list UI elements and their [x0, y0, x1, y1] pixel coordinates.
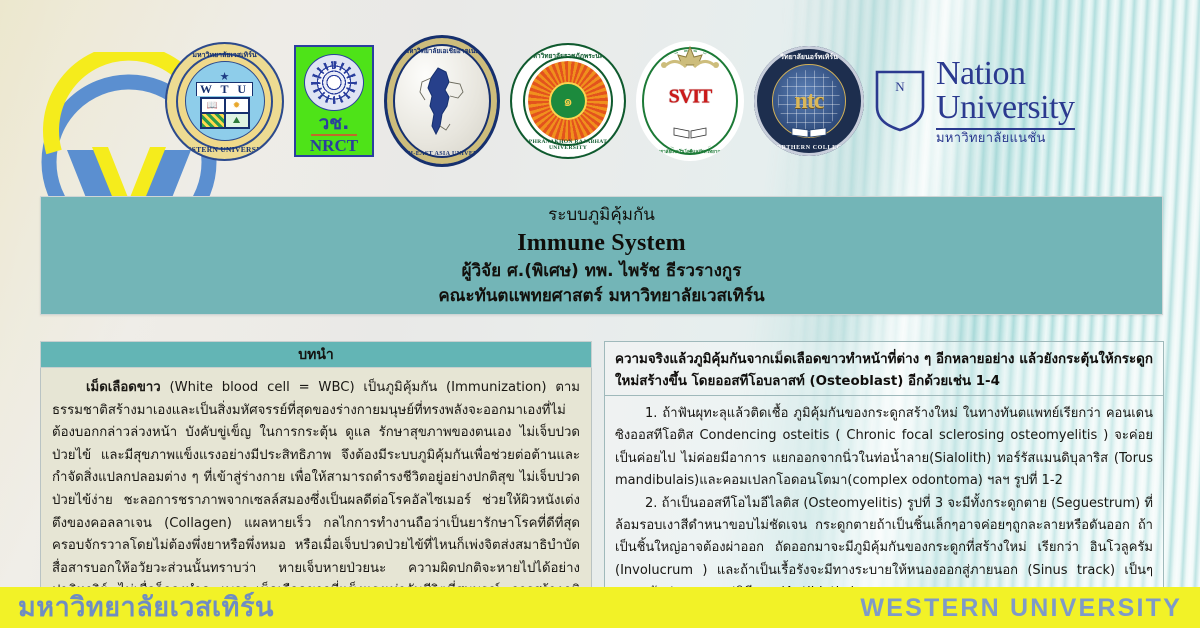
open-book-icon — [791, 126, 827, 138]
star-icon: ★ — [220, 73, 230, 81]
svit-ring-bottom-text: วิทยาลัยเทคโนโลยีและสหวิทยาการ — [636, 149, 744, 156]
footer-bar: มหาวิทยาลัยเวสเทิร์น WESTERN UNIVERSITY — [0, 587, 1200, 628]
right-column-item-1: 1. ถ้าฟันผุทะลุแล้วติดเชื้อ ภูมิคุ้มกันข… — [615, 403, 1153, 493]
left-column-text: (White blood cell = WBC) เป็นภูมิคุ้มกัน… — [52, 380, 580, 621]
logo-nation-university: N Nation University มหาวิทยาลัยแนชั่น — [874, 57, 1075, 145]
wtu-inner-disc: ★ W T U 📖 ✹ ⛰ — [185, 61, 265, 141]
mountain-icon: ⛰ — [225, 113, 249, 128]
thailand-map-icon — [416, 64, 468, 138]
footer-english-text: WESTERN UNIVERSITY — [860, 594, 1182, 622]
crown-icon — [636, 43, 744, 85]
logo-western-thai-university: มหาวิทยาลัยเวสเทิร์น ★ W T U 📖 ✹ ⛰ WESTE… — [165, 42, 284, 161]
title-band: ระบบภูมิคุ้มกัน Immune System ผู้วิจัย ศ… — [40, 196, 1163, 315]
prru-ring-top-text: มหาวิทยาลัยราชภัฏพระนคร — [512, 51, 624, 61]
left-column-heading: บทนำ — [40, 341, 592, 368]
sun-icon: ✹ — [225, 98, 249, 113]
nation-line1: Nation — [936, 57, 1075, 91]
shield-icon: N — [874, 69, 926, 133]
footer-thai-text: มหาวิทยาลัยเวสเทิร์น — [18, 593, 274, 623]
right-column-heading-box: ความจริงแล้วภูมิคุ้มกันจากเม็ดเลือดขาวทำ… — [604, 341, 1164, 395]
seau-ring-top-text: มหาวิทยาลัยเอเชียอาคเนย์ — [387, 46, 497, 56]
logo-nrct: วช. NRCT — [294, 45, 374, 157]
nation-divider — [936, 128, 1075, 130]
nrct-wheel-icon — [304, 54, 364, 111]
thai-title: ระบบภูมิคุ้มกัน — [548, 203, 655, 227]
left-column: บทนำ เม็ดเลือดขาว (White blood cell = WB… — [40, 341, 592, 621]
logo-south-east-asia-university: มหาวิทยาลัยเอเชียอาคเนย์ SOUTH-EAST ASIA… — [384, 35, 500, 167]
prru-ring-bottom-text: PHRANAKHON RAJABHAT UNIVERSITY — [512, 139, 624, 151]
affiliation-line: คณะทันตแพทยศาสตร์ มหาวิทยาลัยเวสเทิร์น — [438, 284, 764, 309]
logo-phranakhon-rajabhat: มหาวิทยาลัยราชภัฏพระนคร ๑ PHRANAKHON RAJ… — [510, 43, 626, 159]
wtu-quadrant-grid: 📖 ✹ ⛰ — [200, 97, 250, 129]
book-icon: 📖 — [201, 98, 225, 113]
prru-emblem-icon: ๑ — [549, 82, 587, 120]
left-column-body: เม็ดเลือดขาว (White blood cell = WBC) เป… — [40, 368, 592, 621]
poster-root: มหาวิทยาลัยเวสเทิร์น ★ W T U 📖 ✹ ⛰ WESTE… — [0, 0, 1200, 628]
right-column-heading: ความจริงแล้วภูมิคุ้มกันจากเม็ดเลือดขาวทำ… — [615, 349, 1153, 393]
wtu-ring-bottom-text: WESTERN UNIVERSITY — [167, 145, 282, 154]
nation-wordmark: Nation University มหาวิทยาลัยแนชั่น — [936, 57, 1075, 145]
lead-bold-term: เม็ดเลือดขาว — [86, 380, 161, 395]
author-line: ผู้วิจัย ศ.(พิเศษ) ทพ. ไพรัช ธีรวรางกูร — [462, 259, 742, 284]
wtu-letters: W T U — [196, 82, 253, 96]
seau-ring-bottom-text: SOUTH-EAST ASIA UNIVERSITY — [387, 151, 497, 157]
left-column-paragraph: เม็ดเลือดขาว (White blood cell = WBC) เป… — [52, 377, 580, 621]
english-title: Immune System — [517, 227, 686, 259]
open-book-icon — [673, 126, 707, 139]
nrct-thai-label: วช. — [319, 113, 350, 133]
logo-svit: SVIT วิทยาลัยเทคโนโลยีและสหวิทยาการ — [636, 41, 744, 161]
nation-line2: University — [936, 91, 1075, 125]
nc-ring-bottom-text: NORTHERN COLLEGE — [754, 145, 864, 151]
right-column: ความจริงแล้วภูมิคุ้มกันจากเม็ดเลือดขาวทำ… — [604, 341, 1164, 628]
logo-northern-college: วิทยาลัยนอร์ทเทิร์น ntc NORTHERN COLLEGE — [754, 46, 864, 156]
svit-acronym: SVIT — [669, 86, 712, 109]
nc-ring-top-text: วิทยาลัยนอร์ทเทิร์น — [754, 52, 864, 63]
nrct-english-label: NRCT — [310, 137, 358, 155]
nc-acronym: ntc — [795, 88, 824, 115]
svg-text:N: N — [895, 79, 905, 94]
nation-thai-label: มหาวิทยาลัยแนชั่น — [936, 132, 1075, 145]
partner-logos-strip: มหาวิทยาลัยเวสเทิร์น ★ W T U 📖 ✹ ⛰ WESTE… — [165, 26, 1075, 176]
wtu-ring-top-text: มหาวิทยาลัยเวสเทิร์น — [167, 50, 282, 61]
stripes-icon — [201, 113, 225, 128]
